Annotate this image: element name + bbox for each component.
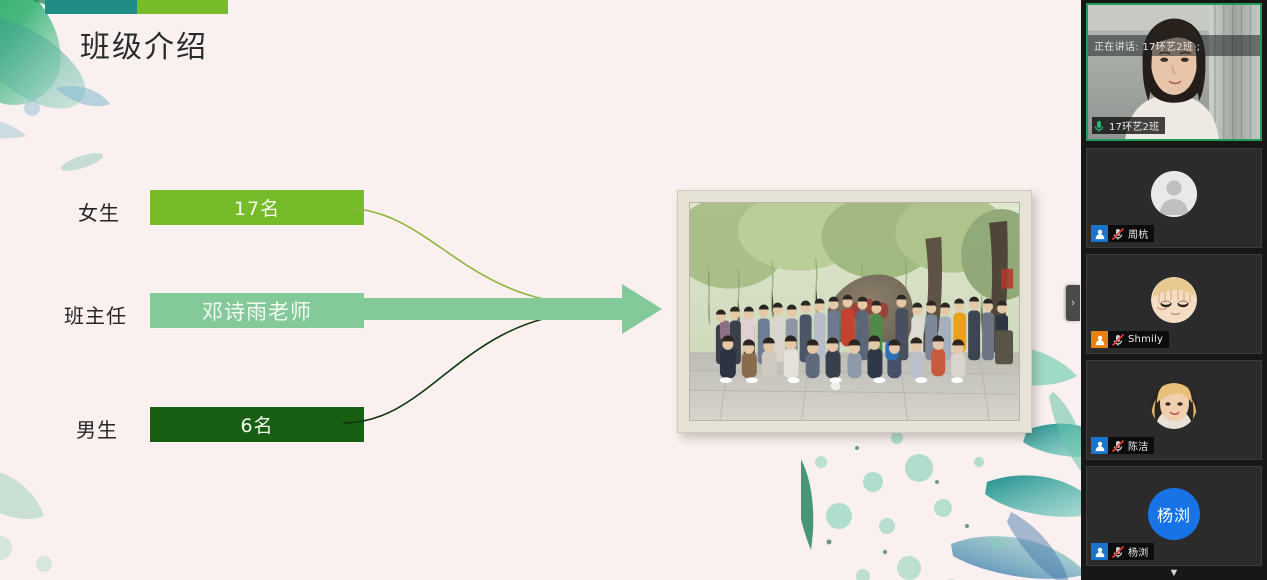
mic-on-icon (1092, 119, 1106, 133)
mic-muted-icon (1111, 227, 1125, 241)
participant-tile-active-speaker[interactable]: 正在讲话: 17环艺2班 ; 17环艺2班 (1086, 3, 1262, 141)
mic-muted-icon (1111, 439, 1125, 453)
scroll-down-chevron-icon[interactable]: ▼ (1081, 568, 1267, 579)
convergence-arrow (340, 180, 680, 440)
participant-tile-shmily[interactable]: Shmily (1086, 254, 1262, 354)
collapse-panel-button[interactable]: › (1066, 285, 1080, 321)
row-label-boys: 男生 (76, 414, 118, 443)
value-bar-boys: 6名 (150, 407, 364, 442)
default-avatar-icon (1151, 171, 1197, 217)
participant-name-badge: 陈洁 (1091, 437, 1154, 454)
value-bar-girls: 17名 (150, 190, 364, 225)
shared-slide: 班级介绍 女生 班主任 男生 17名 邓诗雨老师 6名 (0, 0, 1081, 580)
user-icon (1091, 437, 1108, 454)
participant-name: 陈洁 (1128, 438, 1148, 453)
group-photo-frame (677, 190, 1032, 433)
participant-name: 杨浏 (1128, 544, 1148, 559)
row-label-head-teacher: 班主任 (64, 300, 127, 329)
participant-tile-yangliu[interactable]: 杨浏 杨浏 (1086, 466, 1262, 566)
photo-avatar-icon (1151, 383, 1197, 429)
user-icon (1091, 331, 1108, 348)
participant-name: Shmily (1128, 334, 1163, 345)
screen: 班级介绍 女生 班主任 男生 17名 邓诗雨老师 6名 (0, 0, 1267, 580)
group-photo (689, 202, 1020, 421)
participant-tile-zhouhang[interactable]: 周杭 (1086, 148, 1262, 248)
participant-tile-chenjie[interactable]: 陈洁 (1086, 360, 1262, 460)
row-label-girls: 女生 (78, 197, 120, 226)
cartoon-avatar-icon (1151, 277, 1197, 323)
participant-name: 周杭 (1128, 226, 1148, 241)
value-bar-head-teacher: 邓诗雨老师 (150, 293, 364, 328)
mic-muted-icon (1111, 333, 1125, 347)
participant-name-badge: Shmily (1091, 331, 1169, 348)
page-title: 班级介绍 (80, 22, 208, 66)
accent-bar-green (137, 0, 228, 14)
participant-name-badge: 周杭 (1091, 225, 1154, 242)
participant-name-badge: 杨浏 (1091, 543, 1154, 560)
participant-name: 17环艺2班 (1109, 118, 1159, 133)
user-icon (1091, 543, 1108, 560)
accent-bar-teal (45, 0, 137, 14)
watercolor-bottom-left-icon (0, 430, 110, 580)
initials-avatar: 杨浏 (1148, 488, 1200, 540)
speaking-banner: 正在讲话: 17环艺2班 ; (1088, 35, 1260, 56)
participant-name-badge: 17环艺2班 (1092, 117, 1165, 134)
participants-panel[interactable]: 正在讲话: 17环艺2班 ; 17环艺2班 (1081, 0, 1267, 580)
mic-muted-icon (1111, 545, 1125, 559)
user-icon (1091, 225, 1108, 242)
